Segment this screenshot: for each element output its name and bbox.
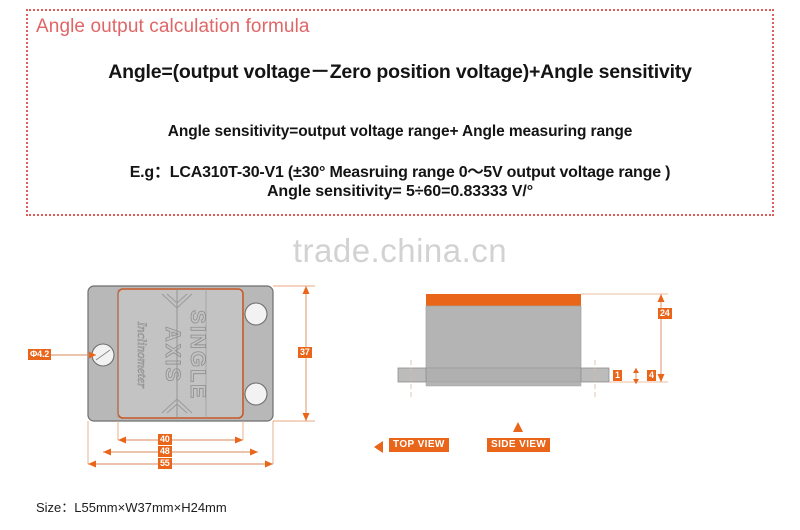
dimension-arrow-outer-left bbox=[88, 461, 96, 468]
formula-line-example-result: Angle sensitivity= 5÷60=0.83333 V/° bbox=[28, 183, 772, 201]
device-side-body bbox=[426, 306, 581, 368]
dim-chip-hole-diameter: Φ4.2 bbox=[28, 349, 51, 360]
device-label-single: SINGLE bbox=[186, 310, 209, 400]
device-label-axis: AXIS bbox=[161, 326, 184, 383]
dimension-arrow-base-bottom bbox=[633, 379, 639, 384]
dim-chip-width: 37 bbox=[298, 347, 312, 358]
dimension-arrow-mid-right bbox=[250, 449, 258, 456]
device-base-plate bbox=[426, 368, 581, 382]
formula-line-angle-equation: Angle=(output voltage－Zero position volt… bbox=[28, 55, 772, 84]
side-view-pointer-arrow bbox=[513, 422, 523, 432]
product-dimension-drawing: SINGLE AXIS Inclinometer bbox=[0, 272, 800, 530]
dimension-extension-lines-length bbox=[88, 421, 273, 464]
formula-panel-title: Angle output calculation formula bbox=[36, 16, 310, 38]
dim-chip-outer-length: 55 bbox=[158, 458, 172, 469]
dimension-arrow-width-top bbox=[303, 286, 310, 294]
dimension-arrow-height-top bbox=[658, 294, 665, 302]
size-caption: Size：L55mm×W37mm×H24mm bbox=[36, 497, 227, 516]
side-view-drawing bbox=[378, 272, 708, 462]
dimension-arrow-outer-right bbox=[265, 461, 273, 468]
watermark-text: trade.china.cn bbox=[0, 232, 800, 270]
top-view-drawing: SINGLE AXIS Inclinometer bbox=[10, 272, 380, 502]
device-base-lip bbox=[426, 382, 581, 386]
dimension-arrow-inner-right bbox=[235, 437, 243, 444]
dimension-arrow-mid-left bbox=[103, 449, 111, 456]
dimension-arrow-inner-left bbox=[118, 437, 126, 444]
dim-chip-inner-length: 40 bbox=[158, 434, 172, 445]
label-top-view: TOP VIEW bbox=[389, 438, 449, 452]
dimension-arrow-width-bottom bbox=[303, 413, 310, 421]
label-side-view: SIDE VIEW bbox=[487, 438, 550, 452]
dim-chip-base-height: 4 bbox=[647, 370, 656, 381]
mounting-flange-left bbox=[398, 368, 426, 382]
top-view-pointer-arrow bbox=[374, 440, 390, 454]
dim-chip-flange-thickness: 1 bbox=[613, 370, 622, 381]
formula-line-example: E.g：LCA310T-30-V1 (±30° Measruing range … bbox=[28, 158, 772, 182]
formula-panel: Angle output calculation formula Angle=(… bbox=[26, 9, 774, 216]
device-label-brand: Inclinometer bbox=[135, 321, 150, 389]
formula-line-sensitivity-definition: Angle sensitivity=output voltage range+ … bbox=[28, 123, 772, 141]
mounting-hole-bottom-right bbox=[245, 383, 267, 405]
dim-chip-mid-length: 48 bbox=[158, 446, 172, 457]
dimension-arrow-height-bottom bbox=[658, 374, 665, 382]
dimension-arrow-base-top bbox=[633, 368, 639, 373]
mounting-hole-top-right bbox=[245, 303, 267, 325]
device-top-cap bbox=[426, 294, 581, 306]
dim-chip-height: 24 bbox=[658, 308, 672, 319]
